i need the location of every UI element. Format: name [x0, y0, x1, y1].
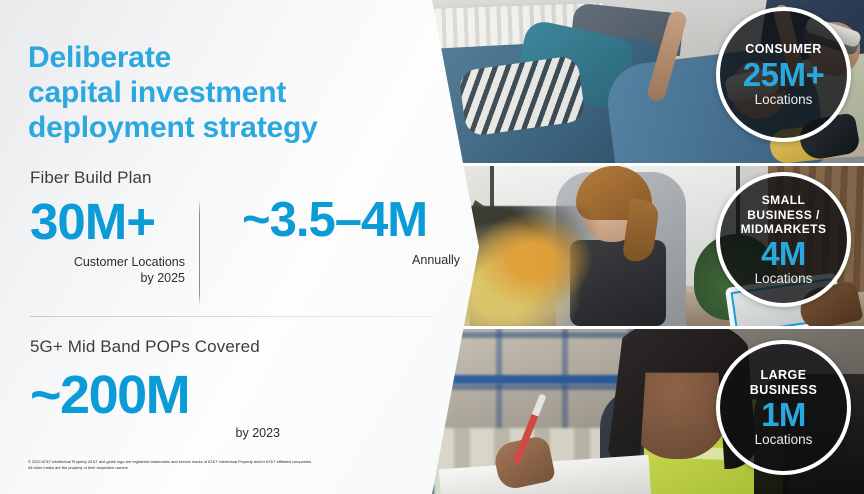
slide-root: Deliberate capital investment deployment… — [0, 0, 864, 494]
badge-large-business-title: LARGE BUSINESS — [744, 368, 824, 398]
caption-line-1: Annually — [242, 253, 460, 269]
stat-customer-locations-value: 30M+ — [30, 196, 195, 247]
fiber-stat-row: 30M+ Customer Locations by 2025 ~3.5–4M … — [30, 196, 450, 306]
badge-large-business-value: 1M — [761, 398, 806, 433]
headline-line-3: deployment strategy — [28, 110, 428, 145]
fiber-build-plan-label: Fiber Build Plan — [30, 168, 152, 188]
section-horizontal-divider — [30, 316, 435, 317]
badge-title-line-2: BUSINESS — [750, 383, 818, 398]
badge-large-business-sub: Locations — [755, 432, 813, 447]
badge-small-business-title: SMALL BUSINESS / MIDMARKETS — [735, 193, 833, 235]
badge-title-line-1: CONSUMER — [745, 42, 822, 57]
caption-line-1: Customer Locations — [30, 255, 185, 271]
stat-5g-pops-caption: by 2023 — [30, 426, 280, 442]
5g-pops-label: 5G+ Mid Band POPs Covered — [30, 337, 260, 357]
stat-customer-locations: 30M+ Customer Locations by 2025 — [30, 196, 195, 286]
stat-5g-pops: ~200M by 2023 — [30, 368, 330, 442]
stat-vertical-divider — [199, 200, 200, 306]
badge-small-business-value: 4M — [761, 237, 806, 272]
headline-line-2: capital investment — [28, 75, 428, 110]
badge-consumer-sub: Locations — [755, 92, 813, 107]
badge-title-line-3: MIDMARKETS — [741, 222, 827, 236]
badge-small-business-midmarkets: SMALL BUSINESS / MIDMARKETS 4M Locations — [716, 172, 851, 307]
legal-disclaimer: © 2022 AT&T Intellectual Property. AT&T … — [28, 459, 428, 471]
badge-consumer-title: CONSUMER — [739, 42, 828, 57]
badge-title-line-1: SMALL — [741, 193, 827, 207]
stat-annual-build: ~3.5–4M Annually — [242, 196, 470, 269]
badge-consumer: CONSUMER 25M+ Locations — [716, 7, 851, 142]
badge-consumer-value: 25M+ — [743, 58, 824, 93]
legal-line-2: All other marks are the property of thei… — [28, 465, 428, 471]
badge-large-business: LARGE BUSINESS 1M Locations — [716, 340, 851, 475]
badge-title-line-2: BUSINESS / — [741, 208, 827, 222]
stat-annual-build-value: ~3.5–4M — [242, 196, 470, 245]
headline-line-1: Deliberate — [28, 40, 428, 75]
badge-small-business-sub: Locations — [755, 271, 813, 286]
badge-title-line-1: LARGE — [750, 368, 818, 383]
stat-5g-pops-value: ~200M — [30, 368, 330, 422]
caption-line-2: by 2025 — [30, 271, 185, 287]
stat-annual-build-caption: Annually — [242, 253, 460, 269]
stat-customer-locations-caption: Customer Locations by 2025 — [30, 255, 185, 286]
left-content: Deliberate capital investment deployment… — [0, 0, 460, 494]
page-title: Deliberate capital investment deployment… — [28, 40, 428, 145]
